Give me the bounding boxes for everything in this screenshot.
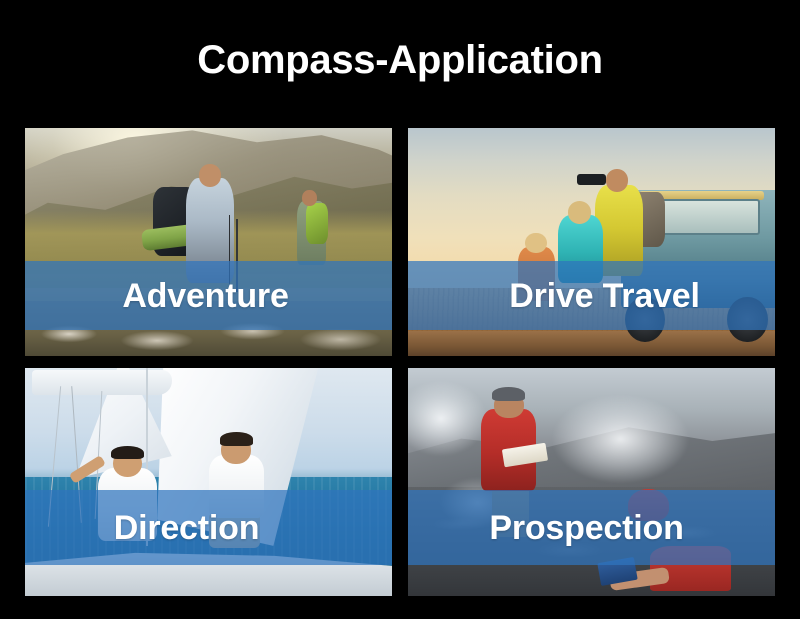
adventure-label-band: Adventure [25,261,392,329]
feature-card-adventure[interactable]: Adventure [25,128,392,356]
direction-label: Direction [25,511,392,545]
drive-travel-label-band: Drive Travel [408,261,775,329]
feature-card-direction[interactable]: Direction [25,368,392,596]
man-head-shape [606,169,628,192]
feature-card-prospection[interactable]: Prospection [408,368,775,596]
feature-card-drive-travel[interactable]: Drive Travel [408,128,775,356]
prospection-label: Prospection [408,511,775,545]
feature-card-grid: Adventure Drive Travel [25,128,775,596]
steam-plume-left-shape [408,373,489,464]
prospection-label-band: Prospection [408,490,775,565]
page-title: Compass-Application [0,36,800,84]
binoculars-shape [577,174,606,185]
steam-plume-center-shape [547,382,694,496]
sailor-one-hair-shape [111,446,144,460]
beanie-hat-shape [492,387,525,401]
dirt-track-shape [408,331,775,356]
direction-label-band: Direction [25,490,392,565]
sailor-two-hair-shape [220,432,253,446]
adventure-label: Adventure [25,279,392,313]
page-root: { "page": { "title": "Compass-Applicatio… [0,0,800,619]
drive-travel-label: Drive Travel [408,279,775,313]
woman-head-shape [568,201,592,224]
second-hiker-pack-shape [306,203,328,244]
second-hiker-head-shape [302,190,317,206]
